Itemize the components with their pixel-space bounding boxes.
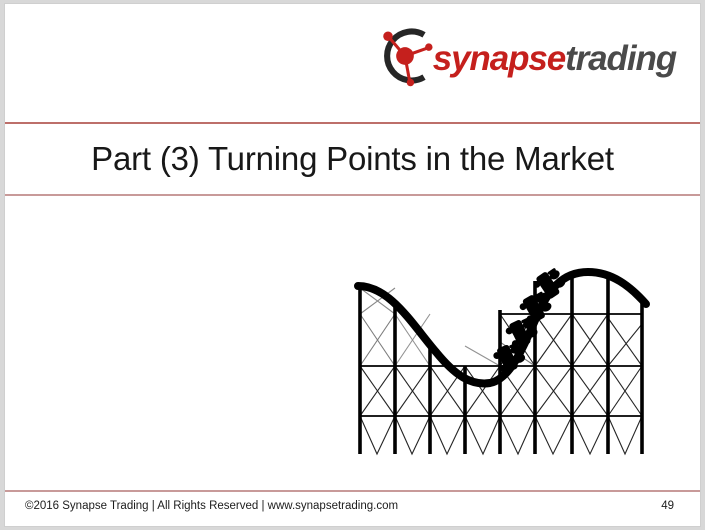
footer-copyright: ©2016 Synapse Trading | All Rights Reser… bbox=[25, 500, 398, 512]
title-band: Part (3) Turning Points in the Market bbox=[5, 124, 700, 194]
synapse-node-network-icon bbox=[371, 22, 439, 90]
page-title: Part (3) Turning Points in the Market bbox=[91, 140, 614, 178]
brand-word-synapse: synapse bbox=[433, 39, 565, 78]
slide-header: synapsetrading bbox=[5, 4, 700, 120]
brand-wordmark: synapsetrading bbox=[433, 41, 676, 76]
slide-canvas: synapsetrading Part (3) Turning Points i… bbox=[4, 3, 701, 527]
page-number: 49 bbox=[661, 500, 674, 512]
slide-body bbox=[5, 196, 700, 490]
slide-footer: ©2016 Synapse Trading | All Rights Reser… bbox=[5, 492, 700, 526]
brand-logo: synapsetrading bbox=[371, 20, 676, 92]
roller-coaster-icon bbox=[350, 246, 670, 481]
brand-word-trading: trading bbox=[565, 39, 676, 78]
